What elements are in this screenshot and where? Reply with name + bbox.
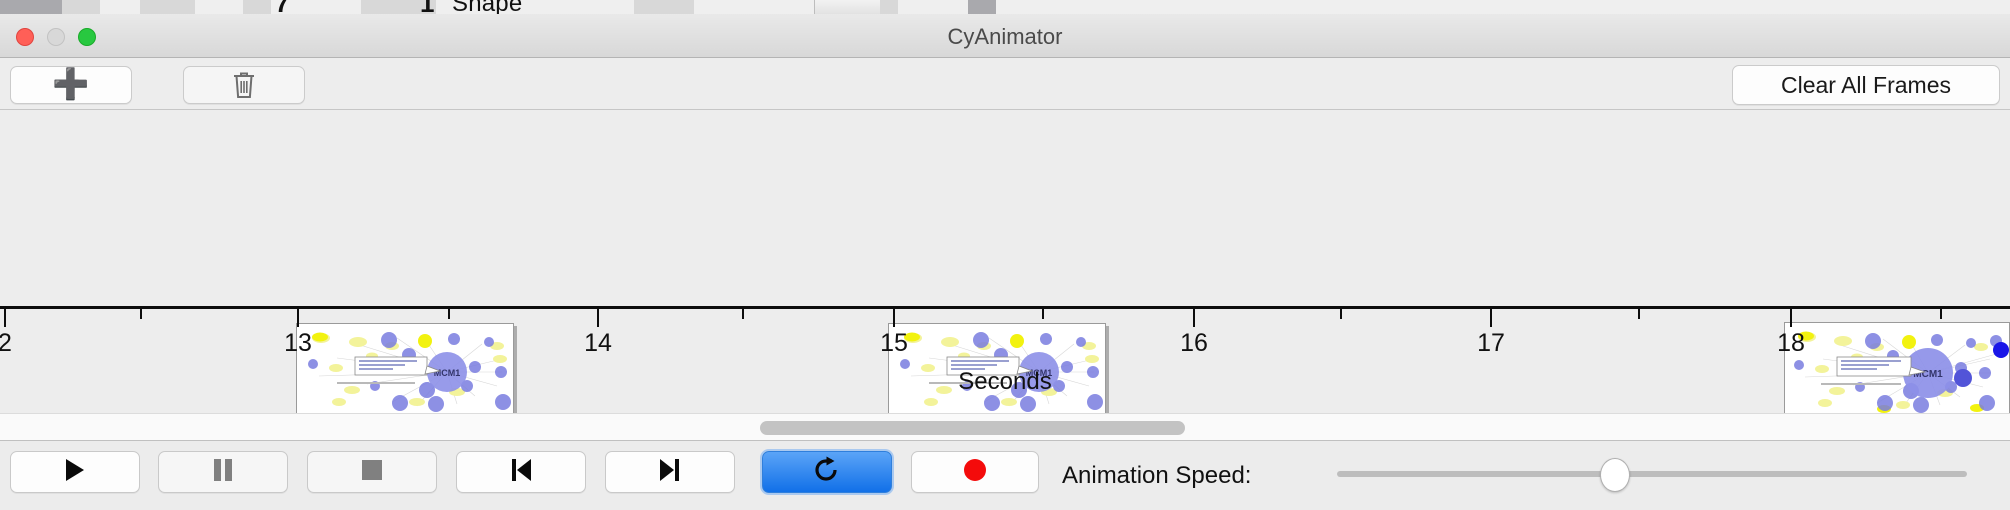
axis-tick-label: 2: [0, 329, 12, 358]
record-button[interactable]: [911, 451, 1039, 493]
animation-speed-slider[interactable]: [1337, 471, 1967, 477]
title-bar: CyAnimator: [0, 14, 2010, 58]
axis-tick-label: 18: [1777, 329, 1805, 358]
background-glyph-right: 1: [420, 0, 434, 15]
record-icon: [962, 457, 988, 488]
axis-tick: [597, 309, 599, 327]
cyanimator-window: 7 1 Shape CyAnimator ➕ Clear All Frames: [0, 0, 2010, 510]
scrollbar-thumb[interactable]: [760, 421, 1185, 435]
axis-tick: [448, 309, 450, 319]
axis-tick-label: 16: [1180, 329, 1208, 358]
timeline-panel[interactable]: MCM1: [0, 110, 2010, 413]
slider-thumb[interactable]: [1600, 458, 1630, 492]
clear-all-frames-label: Clear All Frames: [1781, 72, 1951, 99]
playback-bar: Animation Speed:: [0, 441, 2010, 510]
play-icon: [63, 457, 87, 488]
axis-tick: [1940, 309, 1942, 319]
axis-tick: [1042, 309, 1044, 319]
skip-end-button[interactable]: [605, 451, 735, 493]
skip-start-icon: [510, 457, 532, 488]
stop-button[interactable]: [307, 451, 437, 493]
play-button[interactable]: [10, 451, 140, 493]
add-frame-button[interactable]: ➕: [10, 66, 132, 104]
window-title: CyAnimator: [0, 24, 2010, 50]
axis-tick-label: 17: [1477, 329, 1505, 358]
timeline-scrollbar[interactable]: [0, 413, 2010, 441]
frame-toolbar: ➕ Clear All Frames: [0, 58, 2010, 110]
delete-frame-button[interactable]: [183, 66, 305, 104]
axis-tick: [1193, 309, 1195, 327]
axis-tick-label: 13: [284, 329, 312, 358]
plus-icon: ➕: [52, 70, 89, 100]
background-window-strip: 7 1 Shape: [0, 0, 2010, 15]
animation-speed-label: Animation Speed:: [1062, 462, 1251, 490]
clear-all-frames-button[interactable]: Clear All Frames: [1732, 65, 2000, 105]
pause-button[interactable]: [158, 451, 288, 493]
axis-tick: [893, 309, 895, 327]
axis-title: Seconds: [0, 368, 2010, 396]
axis-tick-label: 15: [880, 329, 908, 358]
axis-tick: [297, 309, 299, 327]
axis-tick-label: 14: [584, 329, 612, 358]
timeline-content: MCM1: [0, 110, 2010, 413]
axis-tick: [140, 309, 142, 319]
stop-icon: [360, 458, 384, 487]
loop-button[interactable]: [762, 451, 892, 493]
axis-tick: [4, 309, 6, 327]
slider-track[interactable]: [1337, 471, 1967, 477]
background-glyph-left: 7: [275, 0, 289, 15]
trash-icon: [231, 70, 257, 100]
axis-tick: [1340, 309, 1342, 319]
skip-end-icon: [659, 457, 681, 488]
axis-tick: [1490, 309, 1492, 327]
loop-icon: [813, 456, 841, 489]
pause-icon: [212, 457, 234, 488]
timeline-axis: [0, 306, 2010, 309]
axis-tick: [742, 309, 744, 319]
axis-tick: [1638, 309, 1640, 319]
background-shape-label: Shape: [452, 0, 522, 15]
axis-tick: [1790, 309, 1792, 327]
skip-start-button[interactable]: [456, 451, 586, 493]
